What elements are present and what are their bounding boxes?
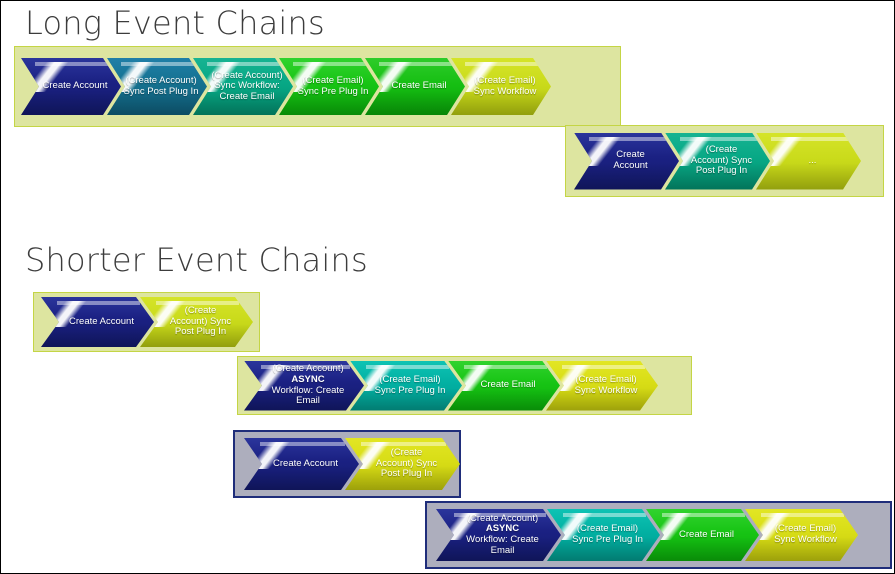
chevron-shade xyxy=(244,466,359,490)
chevron-step[interactable]: CreateAccount xyxy=(574,133,679,190)
chevron-gloss-highlight xyxy=(246,442,292,469)
chevron-bevel-highlight xyxy=(589,137,667,141)
chevron-bevel-highlight xyxy=(35,62,109,66)
chevron-step[interactable]: (Create Email)Sync Pre Plug In xyxy=(350,361,462,411)
section-title-shorter: Shorter Event Chains xyxy=(25,244,368,276)
chevron-bevel-highlight xyxy=(121,62,195,66)
chevron-label: (Create Email)Sync Pre Plug In xyxy=(558,524,649,545)
chevron-shade xyxy=(547,537,660,561)
chevron-label: (Create Email)Sync Workflow xyxy=(760,524,843,545)
chevron-label: (Create Email)Sync Pre Plug In xyxy=(284,76,375,97)
chevron-bevel-highlight xyxy=(207,62,281,66)
chevron-step[interactable]: Create Account xyxy=(21,58,121,115)
event-chain-chain-long-1: Create Account(Create Account)Sync Post … xyxy=(14,46,621,127)
event-chain-chain-short-2: (Create Account)ASYNCWorkflow: CreateEma… xyxy=(237,356,692,415)
chevron-bevel-highlight xyxy=(361,442,446,446)
chevron-bevel-highlight xyxy=(761,513,845,517)
chevron-shade xyxy=(41,324,154,347)
chevron-step[interactable]: Create Email xyxy=(448,361,560,411)
chevron-step[interactable]: Create Email xyxy=(646,509,759,561)
chevron-gloss-highlight xyxy=(246,365,292,391)
chevron-step[interactable]: Create Account xyxy=(244,438,359,490)
chevron-shade xyxy=(244,388,364,411)
chevron-step[interactable]: (Create Email)Sync Workflow xyxy=(546,361,658,411)
chevron-label: Create Account xyxy=(29,81,114,92)
chevron-label: (Create Account)ASYNCWorkflow: CreateEma… xyxy=(258,364,351,407)
chevron-bevel-highlight xyxy=(156,301,240,305)
chevron-step[interactable]: Create Account xyxy=(41,297,154,347)
chevron-label: (Create Account)Sync Workflow:Create Ema… xyxy=(197,71,288,103)
chevron-bevel-highlight xyxy=(366,365,449,369)
chevron-step[interactable]: (Create Email)Sync Workflow xyxy=(451,58,551,115)
chevron-label: CreateAccount xyxy=(599,150,653,171)
chevron-shade xyxy=(745,537,858,561)
chevron-bevel-highlight xyxy=(771,137,849,141)
chevron-shade xyxy=(451,89,551,115)
chevron-bevel-highlight xyxy=(465,62,539,66)
chevron-gloss-highlight xyxy=(43,301,89,327)
chevron-shade xyxy=(574,163,679,189)
chevron-label: Create Account xyxy=(55,317,140,328)
chevron-step[interactable]: (Create Account)Sync Workflow:Create Ema… xyxy=(193,58,293,115)
chevron-step[interactable]: (CreateAccount) SyncPost Plug In xyxy=(140,297,253,347)
chevron-shade xyxy=(193,89,293,115)
chevron-label: (Create Email)Sync Workflow xyxy=(460,76,543,97)
chevron-step[interactable]: (CreateAccount) SyncPost Plug In xyxy=(665,133,770,190)
chevron-step[interactable]: (Create Email)Sync Pre Plug In xyxy=(547,509,660,561)
chevron-step[interactable]: (Create Account)Sync Post Plug In xyxy=(107,58,207,115)
chevron-shade xyxy=(646,537,759,561)
chevron-step[interactable]: (CreateAccount) SyncPost Plug In xyxy=(345,438,460,490)
chevron-label: (CreateAccount) SyncPost Plug In xyxy=(156,306,237,338)
chevron-bevel-highlight xyxy=(293,62,367,66)
chevron-label: Create Email xyxy=(378,81,453,92)
chevron-bevel-highlight xyxy=(454,513,547,517)
chevron-label: Create Email xyxy=(467,380,542,391)
chevron-shade xyxy=(448,388,560,411)
chevron-shade xyxy=(436,537,561,561)
chevron-label: (Create Account)ASYNCWorkflow: CreateEma… xyxy=(452,514,545,557)
chevron-bevel-highlight xyxy=(260,442,345,446)
chevron-label: (CreateAccount) SyncPost Plug In xyxy=(677,145,758,177)
chevron-gloss-highlight xyxy=(438,513,484,540)
event-chain-chain-short-4: (Create Account)ASYNCWorkflow: CreateEma… xyxy=(425,501,892,569)
chevron-shade xyxy=(345,466,460,490)
chevron-step[interactable]: (Create Account)ASYNCWorkflow: CreateEma… xyxy=(436,509,561,561)
chevron-shade xyxy=(140,324,253,347)
chevron-bevel-highlight xyxy=(563,513,647,517)
chevron-shade xyxy=(21,89,121,115)
chevron-bevel-highlight xyxy=(261,365,350,369)
chevron-step[interactable]: (Create Account)ASYNCWorkflow: CreateEma… xyxy=(244,361,364,411)
chevron-step[interactable]: Create Email xyxy=(365,58,465,115)
event-chain-chain-short-3: Create Account(CreateAccount) SyncPost P… xyxy=(233,430,461,498)
chevron-shade xyxy=(546,388,658,411)
chevron-bevel-highlight xyxy=(680,137,758,141)
chevron-label: Create Email xyxy=(665,530,740,541)
chevron-shade xyxy=(665,163,770,189)
chevron-shade xyxy=(756,163,861,189)
chevron-label: ... xyxy=(795,156,823,167)
chevron-bevel-highlight xyxy=(662,513,746,517)
chevron-gloss-highlight xyxy=(576,137,622,167)
chevron-label: (Create Account)Sync Post Plug In xyxy=(110,76,205,97)
chevron-label: (Create Email)Sync Pre Plug In xyxy=(361,375,452,396)
chevron-label: (CreateAccount) SyncPost Plug In xyxy=(362,448,443,480)
chevron-bevel-highlight xyxy=(379,62,453,66)
chevron-label: (Create Email)Sync Workflow xyxy=(561,375,644,396)
slide-canvas: Long Event ChainsShorter Event ChainsCre… xyxy=(0,0,895,574)
chevron-shade xyxy=(365,89,465,115)
chevron-bevel-highlight xyxy=(57,301,141,305)
chevron-step[interactable]: ... xyxy=(756,133,861,190)
chevron-label: Create Account xyxy=(259,459,344,470)
event-chain-chain-long-2: CreateAccount(CreateAccount) SyncPost Pl… xyxy=(565,125,884,197)
chevron-shade xyxy=(107,89,207,115)
section-title-long: Long Event Chains xyxy=(25,7,325,39)
chevron-bevel-highlight xyxy=(464,365,547,369)
chevron-bevel-highlight xyxy=(562,365,645,369)
chevron-step[interactable]: (Create Email)Sync Pre Plug In xyxy=(279,58,379,115)
chevron-gloss-highlight xyxy=(23,62,69,92)
chevron-shade xyxy=(350,388,462,411)
event-chain-chain-short-1: Create Account(CreateAccount) SyncPost P… xyxy=(33,292,260,352)
chevron-step[interactable]: (Create Email)Sync Workflow xyxy=(745,509,858,561)
chevron-shade xyxy=(279,89,379,115)
